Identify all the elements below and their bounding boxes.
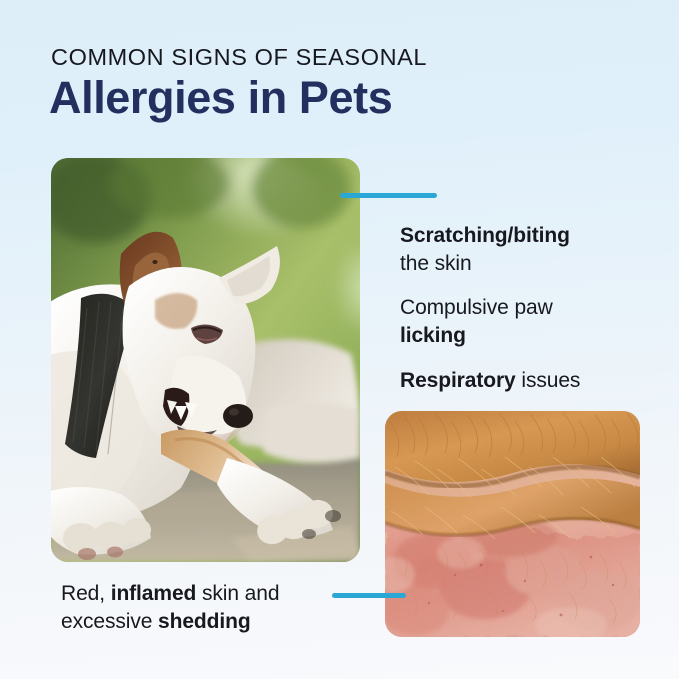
symptom-item-licking: Compulsive paw licking	[400, 294, 662, 349]
caption-inflamed-skin: Red, inflamed skin and excessive sheddin…	[61, 580, 361, 637]
symptom-licking-bold: licking	[400, 324, 466, 347]
kicker-text: COMMON SIGNS OF SEASONAL	[51, 44, 427, 71]
symptom-scratching-bold: Scratching/biting	[400, 224, 570, 247]
symptom-scratching-normal: the skin	[400, 252, 472, 275]
symptom-item-scratching: Scratching/biting the skin	[400, 222, 662, 277]
caption-part-2-bold: inflamed	[111, 582, 197, 605]
symptom-list: Scratching/biting the skin Compulsive pa…	[400, 222, 662, 395]
symptom-licking-normal: Compulsive paw	[400, 296, 553, 319]
symptom-respiratory-normal: issues	[521, 369, 580, 392]
dog-photo-illustration	[51, 158, 360, 562]
page-title: Allergies in Pets	[49, 72, 392, 124]
dog-photo	[51, 158, 360, 562]
caption-part-4-bold: shedding	[158, 610, 251, 633]
caption-part-1: Red,	[61, 582, 111, 605]
infographic-poster: COMMON SIGNS OF SEASONAL Allergies in Pe…	[0, 0, 679, 679]
connector-line-top	[340, 193, 437, 198]
skin-photo-illustration	[385, 411, 640, 637]
symptom-item-respiratory: Respiratory issues	[400, 367, 662, 395]
skin-photo	[385, 411, 640, 637]
symptom-respiratory-bold: Respiratory	[400, 369, 516, 392]
